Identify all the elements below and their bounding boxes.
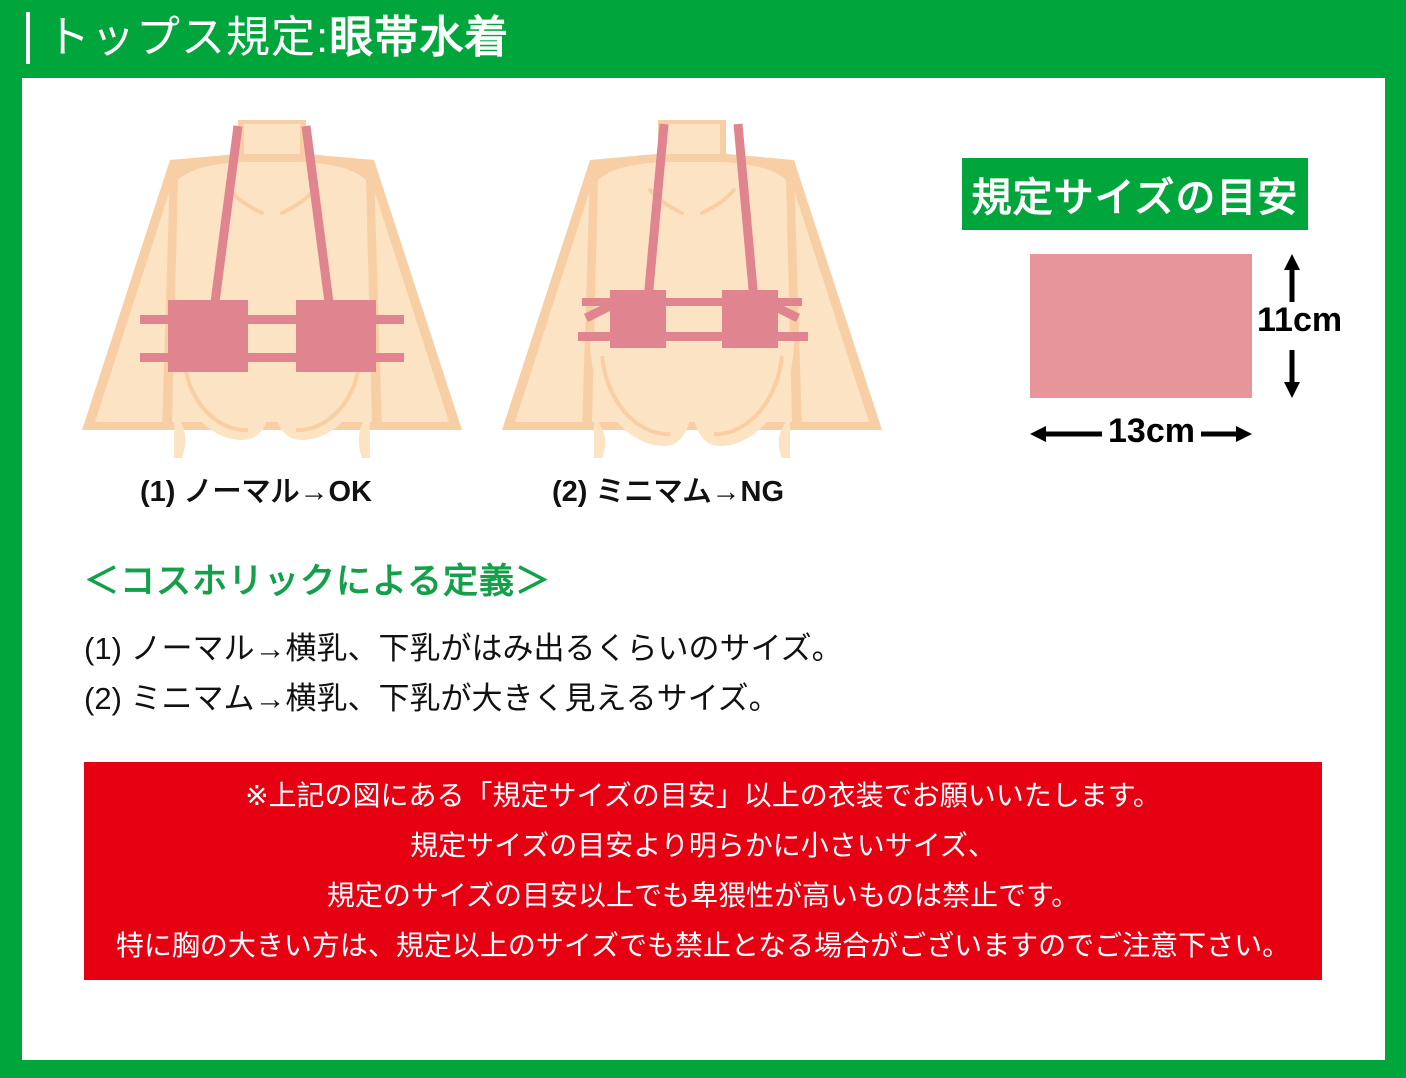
size-guide-header: 規定サイズの目安 xyxy=(962,158,1308,230)
page-header: トップス規定:眼帯水着 xyxy=(0,0,1406,78)
pad-left xyxy=(168,300,248,372)
pad-left xyxy=(610,290,666,348)
page-title-bold: 眼帯水着 xyxy=(329,13,509,62)
illustration-minimum xyxy=(482,110,902,460)
warning-line: 特に胸の大きい方は、規定以上のサイズでも禁止となる場合がございますのでご注意下さ… xyxy=(116,921,1290,971)
definition-heading: ＜コスホリックによる定義＞ xyxy=(84,553,551,604)
warning-box: ※上記の図にある「規定サイズの目安」以上の衣装でお願いいたします。 規定サイズの… xyxy=(84,762,1322,980)
pad-right xyxy=(722,290,778,348)
size-guide-header-label: 規定サイズの目安 xyxy=(972,165,1299,223)
warning-line: 規定サイズの目安より明らかに小さいサイズ、 xyxy=(410,821,996,871)
title-accent-bar xyxy=(26,12,30,64)
width-label: 13cm xyxy=(1102,412,1201,451)
center-strap xyxy=(248,316,296,324)
page-title-light: トップス規定: xyxy=(46,13,329,62)
caption-minimum: (2) ミニマム→NG xyxy=(552,468,784,510)
pad-right xyxy=(296,300,376,372)
size-guide-panel: 規定サイズの目安 11cm 13cm xyxy=(942,158,1342,458)
definition-line: (1) ノーマル→横乳、下乳がはみ出るくらいのサイズ。 xyxy=(84,623,843,668)
definition-line: (2) ミニマム→横乳、下乳が大きく見えるサイズ。 xyxy=(84,673,780,718)
illustration-normal xyxy=(62,110,482,460)
page-title: トップス規定:眼帯水着 xyxy=(46,5,509,71)
height-label: 11cm xyxy=(1257,301,1342,340)
caption-normal: (1) ノーマル→OK xyxy=(140,468,372,510)
torso-diagram-normal xyxy=(62,110,482,460)
torso-diagram-minimum xyxy=(482,110,902,460)
size-swatch xyxy=(1030,254,1252,398)
content-panel: (1) ノーマル→OK xyxy=(22,78,1385,1060)
warning-line: 規定のサイズの目安以上でも卑猥性が高いものは禁止です。 xyxy=(327,871,1079,921)
warning-line: ※上記の図にある「規定サイズの目安」以上の衣装でお願いいたします。 xyxy=(245,771,1161,821)
